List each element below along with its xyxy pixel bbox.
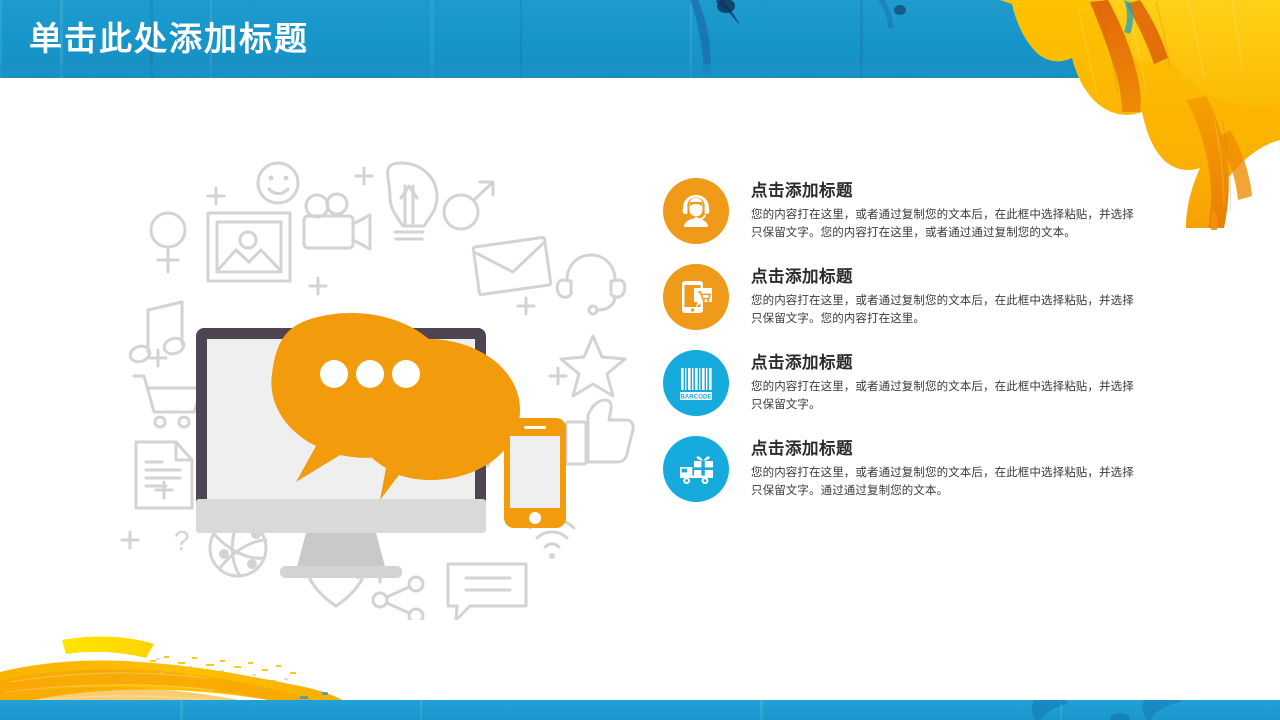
chat-bubble-icon xyxy=(448,564,526,620)
barcode-icon: BARCODE xyxy=(663,350,729,416)
photo-frame-icon xyxy=(208,213,290,281)
list-item-text: 点击添加标题 您的内容打在这里，或者通过复制您的文本后，在此框中选择粘贴，并选择… xyxy=(751,178,1141,242)
list-item-title: 点击添加标题 xyxy=(751,439,1141,459)
list-item-text: 点击添加标题 您的内容打在这里，或者通过复制您的文本后，在此框中选择粘贴，并选择… xyxy=(751,264,1141,328)
thumbs-up-icon xyxy=(566,400,633,464)
illustration-online-communication: ? xyxy=(118,150,638,620)
share-icon xyxy=(373,577,423,620)
headset-icon xyxy=(557,255,625,314)
list-item-text: 点击添加标题 您的内容打在这里，或者通过复制您的文本后，在此框中选择粘贴，并选择… xyxy=(751,350,1141,414)
list-item[interactable]: 点击添加标题 您的内容打在这里，或者通过复制您的文本后，在此框中选择粘贴，并选择… xyxy=(663,264,1083,330)
shopping-cart-icon xyxy=(134,376,202,427)
delivery-truck-gift-icon xyxy=(663,436,729,502)
footer-band xyxy=(0,700,1280,720)
lightbulb-icon xyxy=(388,163,437,239)
list-item-title: 点击添加标题 xyxy=(751,267,1141,287)
header-paint-edge xyxy=(0,64,1280,78)
list-item-text: 点击添加标题 您的内容打在这里，或者通过复制您的文本后，在此框中选择粘贴，并选择… xyxy=(751,436,1141,500)
barcode-label: BARCODE xyxy=(680,393,711,400)
page-title: 单击此处添加标题 xyxy=(29,18,309,60)
list-item[interactable]: 点击添加标题 您的内容打在这里，或者通过复制您的文本后，在此框中选择粘贴，并选择… xyxy=(663,178,1083,244)
list-item[interactable]: 点击添加标题 您的内容打在这里，或者通过复制您的文本后，在此框中选择粘贴，并选择… xyxy=(663,436,1083,502)
smartphone-icon xyxy=(504,418,566,528)
female-symbol-icon xyxy=(151,213,185,272)
list-item-title: 点击添加标题 xyxy=(751,353,1141,373)
svg-text:?: ? xyxy=(174,525,190,556)
support-headset-icon xyxy=(663,178,729,244)
smiley-icon xyxy=(258,163,298,203)
question-mark-icon: ? xyxy=(174,525,190,556)
list-item[interactable]: BARCODE 点击添加标题 您的内容打在这里，或者通过复制您的文本后，在此框中… xyxy=(663,350,1083,416)
list-item-title: 点击添加标题 xyxy=(751,181,1141,201)
list-item-body: 您的内容打在这里，或者通过复制您的文本后，在此框中选择粘贴，并选择只保留文字。您… xyxy=(751,206,1141,242)
star-icon xyxy=(561,336,625,396)
bubble-dot xyxy=(392,360,420,388)
slide-canvas: 单击此处添加标题 xyxy=(0,0,1280,720)
bullet-list: 点击添加标题 您的内容打在这里，或者通过复制您的文本后，在此框中选择粘贴，并选择… xyxy=(663,178,1083,522)
bubble-dot xyxy=(356,360,384,388)
video-camera-icon xyxy=(304,194,370,249)
bubble-dot xyxy=(320,360,348,388)
envelope-icon xyxy=(473,237,551,295)
list-item-body: 您的内容打在这里，或者通过复制您的文本后，在此框中选择粘贴，并选择只保留文字。您… xyxy=(751,292,1141,328)
male-symbol-icon xyxy=(444,182,493,229)
list-item-body: 您的内容打在这里，或者通过复制您的文本后，在此框中选择粘贴，并选择只保留文字。通… xyxy=(751,464,1141,500)
list-item-body: 您的内容打在这里，或者通过复制您的文本后，在此框中选择粘贴，并选择只保留文字。 xyxy=(751,378,1141,414)
tablet-shopping-icon xyxy=(663,264,729,330)
